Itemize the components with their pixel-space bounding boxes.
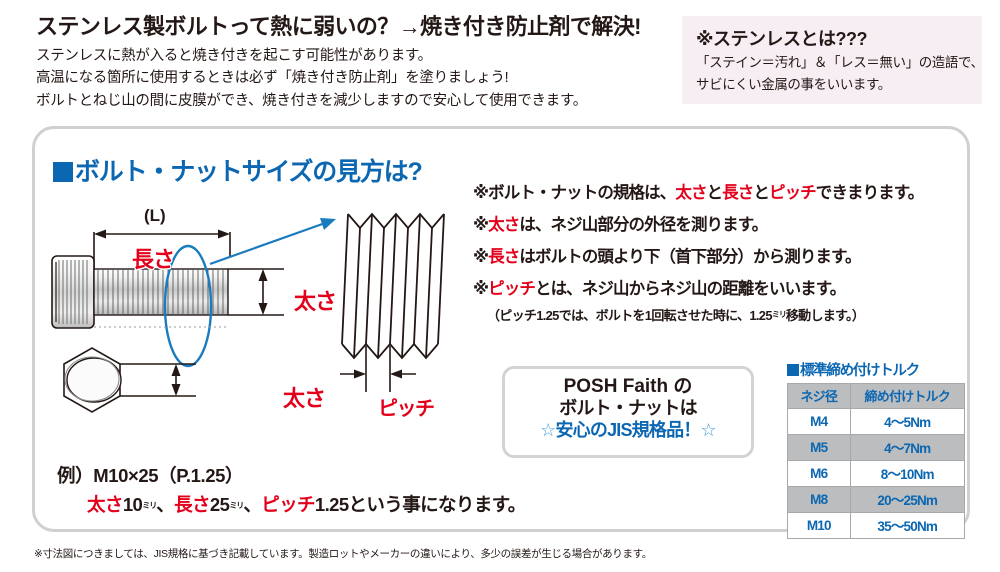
cell-size: M5 bbox=[788, 435, 850, 460]
cell-torque: 4～5Nm bbox=[851, 409, 964, 434]
nut-dia-arrow-down bbox=[172, 384, 181, 396]
cell-size: M10 bbox=[788, 513, 850, 538]
bullet-2-prefix: ※ bbox=[473, 216, 488, 234]
label-futosa-nut: 太さ bbox=[283, 381, 325, 413]
bolt-diameter-dimension bbox=[228, 269, 284, 315]
cell-torque: 20～25Nm bbox=[851, 487, 964, 512]
bullet-4-prefix: ※ bbox=[473, 280, 488, 298]
thread-zoom-arrow-line bbox=[210, 222, 328, 264]
bolt-nut-diagram: (L) 長さ 太さ 太さ ピッチ bbox=[48, 196, 478, 458]
main-panel-title-text: ボルト・ナットサイズの見方は? bbox=[75, 158, 422, 186]
example-value-1: 10 bbox=[123, 494, 142, 515]
blue-square-bullet-icon-small bbox=[787, 364, 799, 376]
cell-size: M6 bbox=[788, 461, 850, 486]
bullet-1-red-2: 長さ bbox=[722, 184, 753, 202]
torque-table-section: 標準締め付けトルク ネジ径 締め付けトルク M4 4～5Nm M5 4～7Nm bbox=[787, 359, 965, 539]
cell-torque: 8～10Nm bbox=[851, 461, 964, 486]
example-tail: という事になります。 bbox=[349, 494, 526, 515]
cell-torque: 35～50Nm bbox=[851, 513, 964, 538]
note-unit: ミリ bbox=[772, 310, 786, 319]
note-before: （ピッチ1.25では、ボルトを1回転させた時に、1.25 bbox=[487, 308, 772, 323]
length-symbol-label: (L) bbox=[144, 206, 166, 226]
bullet-1-prefix: ※ボルト・ナットの規格は、 bbox=[473, 184, 675, 202]
col-header-torque: 締め付けトルク bbox=[851, 384, 964, 408]
table-row: M4 4～5Nm bbox=[788, 409, 964, 434]
star-left-icon: ☆ bbox=[540, 420, 555, 440]
nut-shape bbox=[64, 348, 121, 412]
intro-text-block: ステンレス製ボルトって熱に弱いの？→焼き付き防止剤で解決! ステンレスに熱が入る… bbox=[36, 14, 656, 112]
label-pitch: ピッチ bbox=[378, 392, 434, 421]
nut-diameter-dimension bbox=[120, 364, 196, 396]
stainless-box-line-2: サビにくい金属の事をいいます。 bbox=[696, 75, 982, 95]
torque-table-title: 標準締め付けトルク bbox=[787, 359, 965, 380]
col-header-size: ネジ径 bbox=[788, 384, 850, 408]
example-value-2: 25 bbox=[210, 494, 229, 515]
bolt-dia-arrow-down bbox=[259, 303, 268, 315]
posh-line-1: POSH Faith の bbox=[505, 376, 751, 398]
stainless-definition-box: ※ステンレスとは??? 「ステイン＝汚れ」＆「レス＝無い」の造語で、 サビにくい… bbox=[682, 16, 982, 104]
torque-table: ネジ径 締め付けトルク M4 4～5Nm M5 4～7Nm M6 8～10Nm bbox=[787, 383, 965, 539]
example-red-1: 太さ bbox=[87, 494, 123, 515]
bullet-item-3: ※長さはボルトの頭より下（首下部分）から測ります。 bbox=[473, 248, 983, 266]
nut-dia-arrow-up bbox=[172, 364, 181, 376]
bullet-3-prefix: ※ bbox=[473, 248, 488, 266]
page-root: ステンレス製ボルトって熱に弱いの？→焼き付き防止剤で解決! ステンレスに熱が入る… bbox=[0, 0, 1000, 572]
blue-square-bullet-icon bbox=[53, 162, 73, 182]
bullet-item-4: ※ピッチとは、ネジ山からネジ山の距離をいいます。 bbox=[473, 280, 983, 298]
table-row: M10 35～50Nm bbox=[788, 513, 964, 538]
table-row: M6 8～10Nm bbox=[788, 461, 964, 486]
bullet-4-red-1: ピッチ bbox=[488, 280, 535, 298]
bullet-1-mid-1: と bbox=[707, 184, 723, 202]
intro-line-1: ステンレスに熱が入ると焼き付きを起こす可能性があります。 bbox=[36, 45, 656, 67]
bullet-3-suffix: はボルトの頭より下（首下部分）から測ります。 bbox=[519, 248, 860, 266]
bolt-head bbox=[52, 256, 94, 328]
example-line-2: 太さ10ミリ、長さ25ミリ、ピッチ1.25という事になります。 bbox=[87, 491, 487, 517]
stainless-box-line-1: 「ステイン＝汚れ」＆「レス＝無い」の造語で、 bbox=[696, 53, 982, 73]
example-value-3: 1.25 bbox=[315, 494, 349, 515]
bullet-2-suffix: は、ネジ山部分の外径を測ります。 bbox=[519, 216, 767, 234]
bullet-1-red-3: ピッチ bbox=[769, 184, 816, 202]
example-unit-2: ミリ bbox=[229, 501, 243, 510]
example-red-2: 長さ bbox=[174, 494, 210, 515]
intro-line-2: 高温になる箇所に使用するときは必ず「焼き付き防止剤」を塗りましょう! bbox=[36, 67, 656, 89]
example-unit-1: ミリ bbox=[142, 501, 156, 510]
bullet-1-suffix: できまります。 bbox=[816, 184, 924, 202]
bullet-item-2: ※太さは、ネジ山部分の外径を測ります。 bbox=[473, 216, 983, 234]
bullet-item-1: ※ボルト・ナットの規格は、太さと長さとピッチできまります。 bbox=[473, 184, 983, 202]
posh-line-3: ☆安心のJIS規格品！☆ bbox=[505, 420, 751, 442]
magnified-thread-profile bbox=[342, 214, 444, 358]
cell-size: M4 bbox=[788, 409, 850, 434]
label-nagasa: 長さ bbox=[132, 242, 174, 274]
label-futosa-bolt: 太さ bbox=[294, 284, 336, 316]
bullet-4-suffix: とは、ネジ山からネジ山の距離をいいます。 bbox=[535, 280, 845, 298]
intro-body: ステンレスに熱が入ると焼き付きを起こす可能性があります。 高温になる箇所に使用す… bbox=[36, 45, 656, 112]
table-row: M5 4～7Nm bbox=[788, 435, 964, 460]
star-right-icon: ☆ bbox=[701, 420, 716, 440]
posh-faith-box: POSH Faith の ボルト・ナットは ☆安心のJIS規格品！☆ bbox=[502, 366, 754, 458]
example-sep-2: 、 bbox=[243, 494, 261, 515]
bullet-1-mid-2: と bbox=[753, 184, 769, 202]
table-header-row: ネジ径 締め付けトルク bbox=[788, 384, 964, 408]
posh-line-3-text: 安心のJIS規格品！ bbox=[555, 420, 700, 440]
example-block: 例）M10×25（P.1.25） 太さ10ミリ、長さ25ミリ、ピッチ1.25とい… bbox=[57, 462, 487, 517]
cell-size: M8 bbox=[788, 487, 850, 512]
bullet-3-red-1: 長さ bbox=[488, 248, 519, 266]
length-arrow-right bbox=[218, 230, 230, 239]
bullet-1-red-1: 太さ bbox=[675, 184, 706, 202]
spec-bullet-list: ※ボルト・ナットの規格は、太さと長さとピッチできまります。 ※太さは、ネジ山部分… bbox=[473, 184, 983, 336]
example-sep-1: 、 bbox=[156, 494, 174, 515]
bolt-dia-arrow-up bbox=[259, 269, 268, 281]
posh-line-2: ボルト・ナットは bbox=[505, 398, 751, 420]
torque-table-title-text: 標準締め付けトルク bbox=[800, 363, 919, 379]
intro-line-3: ボルトとねじ山の間に皮膜ができ、焼き付きを減少しますので安心して使用できます。 bbox=[36, 90, 656, 112]
bullet-item-4-note: （ピッチ1.25では、ボルトを1回転させた時に、1.25ミリ移動します。） bbox=[487, 305, 983, 324]
main-panel-title: ボルト・ナットサイズの見方は? bbox=[53, 152, 422, 188]
table-row: M8 20～25Nm bbox=[788, 487, 964, 512]
footnote-text: ※寸法図につきましては、JIS規格に基づき記載しています。製造ロットやメーカーの… bbox=[34, 546, 652, 561]
cell-torque: 4～7Nm bbox=[851, 435, 964, 460]
pitch-arrow-right bbox=[390, 370, 402, 379]
intro-headline: ステンレス製ボルトって熱に弱いの？→焼き付き防止剤で解決! bbox=[36, 14, 656, 40]
thread-zoom-arrow-head bbox=[320, 218, 336, 230]
pitch-arrow-left bbox=[354, 370, 366, 379]
example-line-1: 例）M10×25（P.1.25） bbox=[57, 462, 487, 488]
bullet-2-red-1: 太さ bbox=[488, 216, 519, 234]
example-red-3: ピッチ bbox=[261, 494, 315, 515]
stainless-box-title: ※ステンレスとは??? bbox=[696, 25, 982, 51]
note-after: 移動します。） bbox=[786, 308, 864, 323]
length-arrow-left bbox=[94, 230, 106, 239]
